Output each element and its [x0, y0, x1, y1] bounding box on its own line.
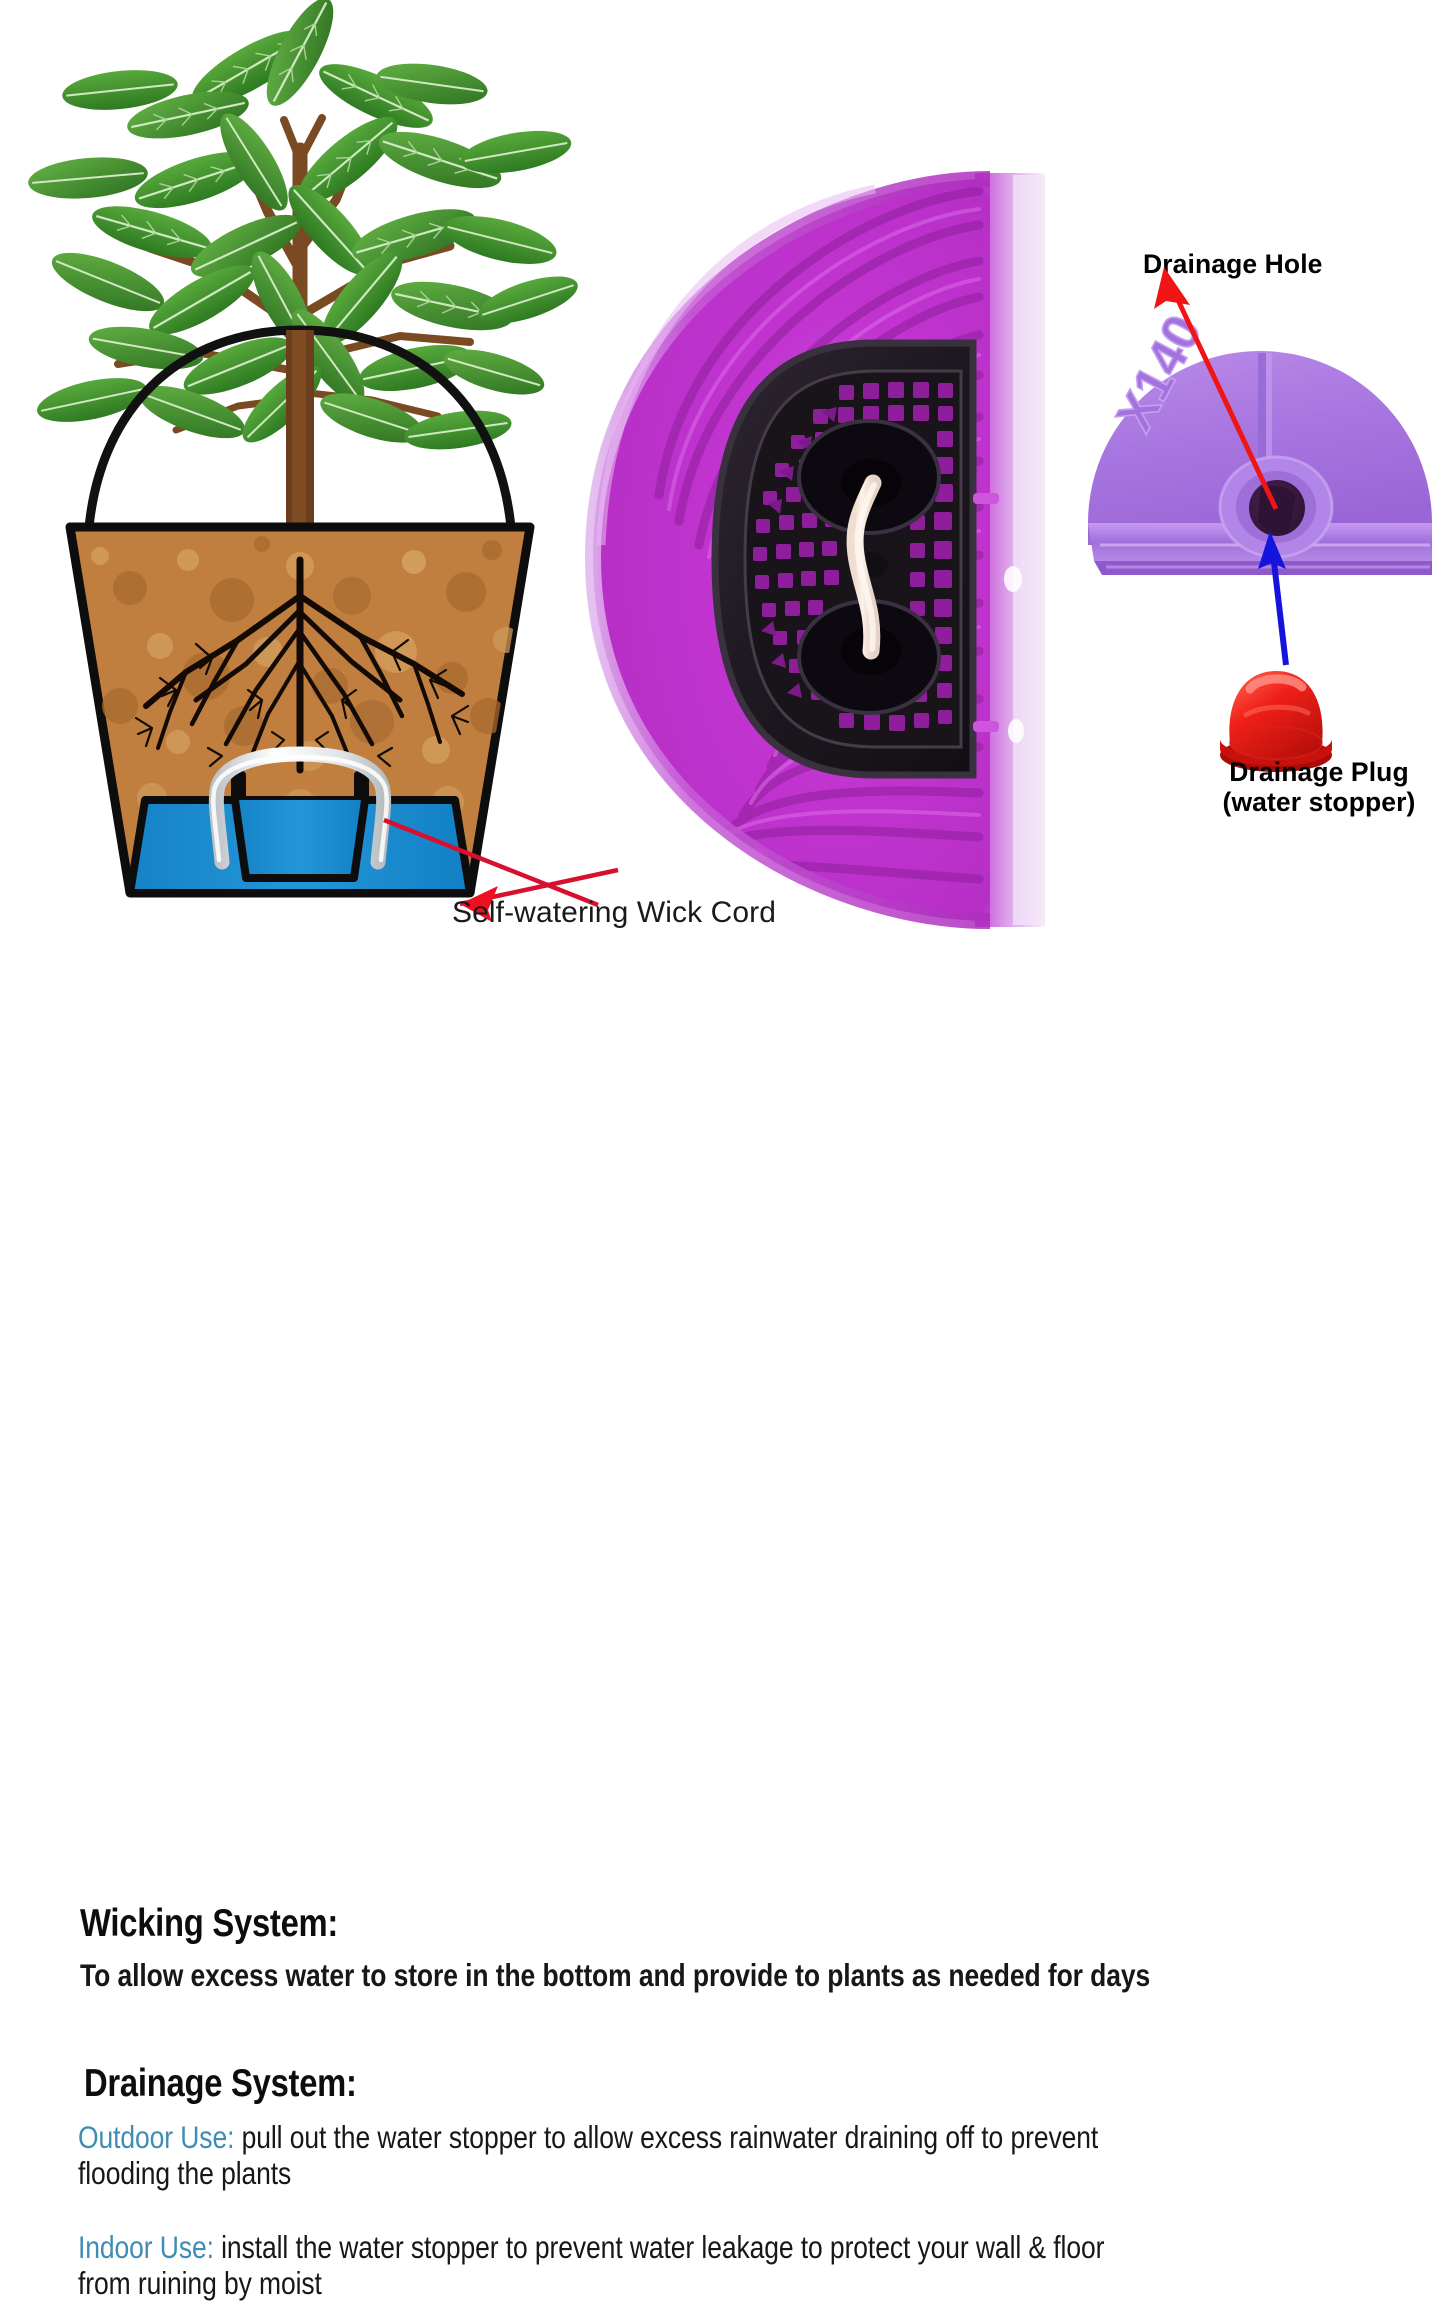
- wicking-system-description: To allow excess water to store in the bo…: [80, 1957, 1150, 1994]
- pot-section-figure: [575, 165, 1075, 935]
- drainage-detail-figure: X140: [1080, 245, 1445, 845]
- outdoor-use-text: pull out the water stopper to allow exce…: [234, 2119, 1098, 2155]
- drainage-plug-label-line2: (water stopper): [1196, 788, 1442, 818]
- indoor-use-line-1: Indoor Use: install the water stopper to…: [78, 2229, 1104, 2266]
- drainage-system-heading: Drainage System:: [84, 2062, 357, 2106]
- plant-cutaway-figure: [0, 0, 600, 950]
- indoor-use-lead: Indoor Use:: [78, 2229, 214, 2265]
- purple-pot-half-section: [575, 165, 1075, 935]
- outdoor-use-line-2: flooding the plants: [78, 2155, 291, 2192]
- drainage-plug-label: Drainage Plug (water stopper): [1196, 758, 1442, 817]
- infographic-canvas: Self-watering Wick Cord: [0, 0, 1445, 1338]
- indoor-use-text: install the water stopper to prevent wat…: [214, 2229, 1104, 2265]
- outdoor-use-lead: Outdoor Use:: [78, 2119, 234, 2155]
- drainage-plug-label-line1: Drainage Plug: [1196, 758, 1442, 788]
- plant-cutaway-illustration: [0, 0, 600, 950]
- indoor-use-line-2: from ruining by moist: [78, 2265, 322, 2302]
- wicking-system-heading: Wicking System:: [80, 1902, 338, 1946]
- pot-base-fragment: X140: [1080, 245, 1445, 845]
- wicking-tray: [715, 343, 973, 775]
- outdoor-use-line-1: Outdoor Use: pull out the water stopper …: [78, 2119, 1098, 2156]
- description-text-block: Wicking System: To allow excess water to…: [0, 944, 1445, 1338]
- pot-body: [70, 527, 530, 893]
